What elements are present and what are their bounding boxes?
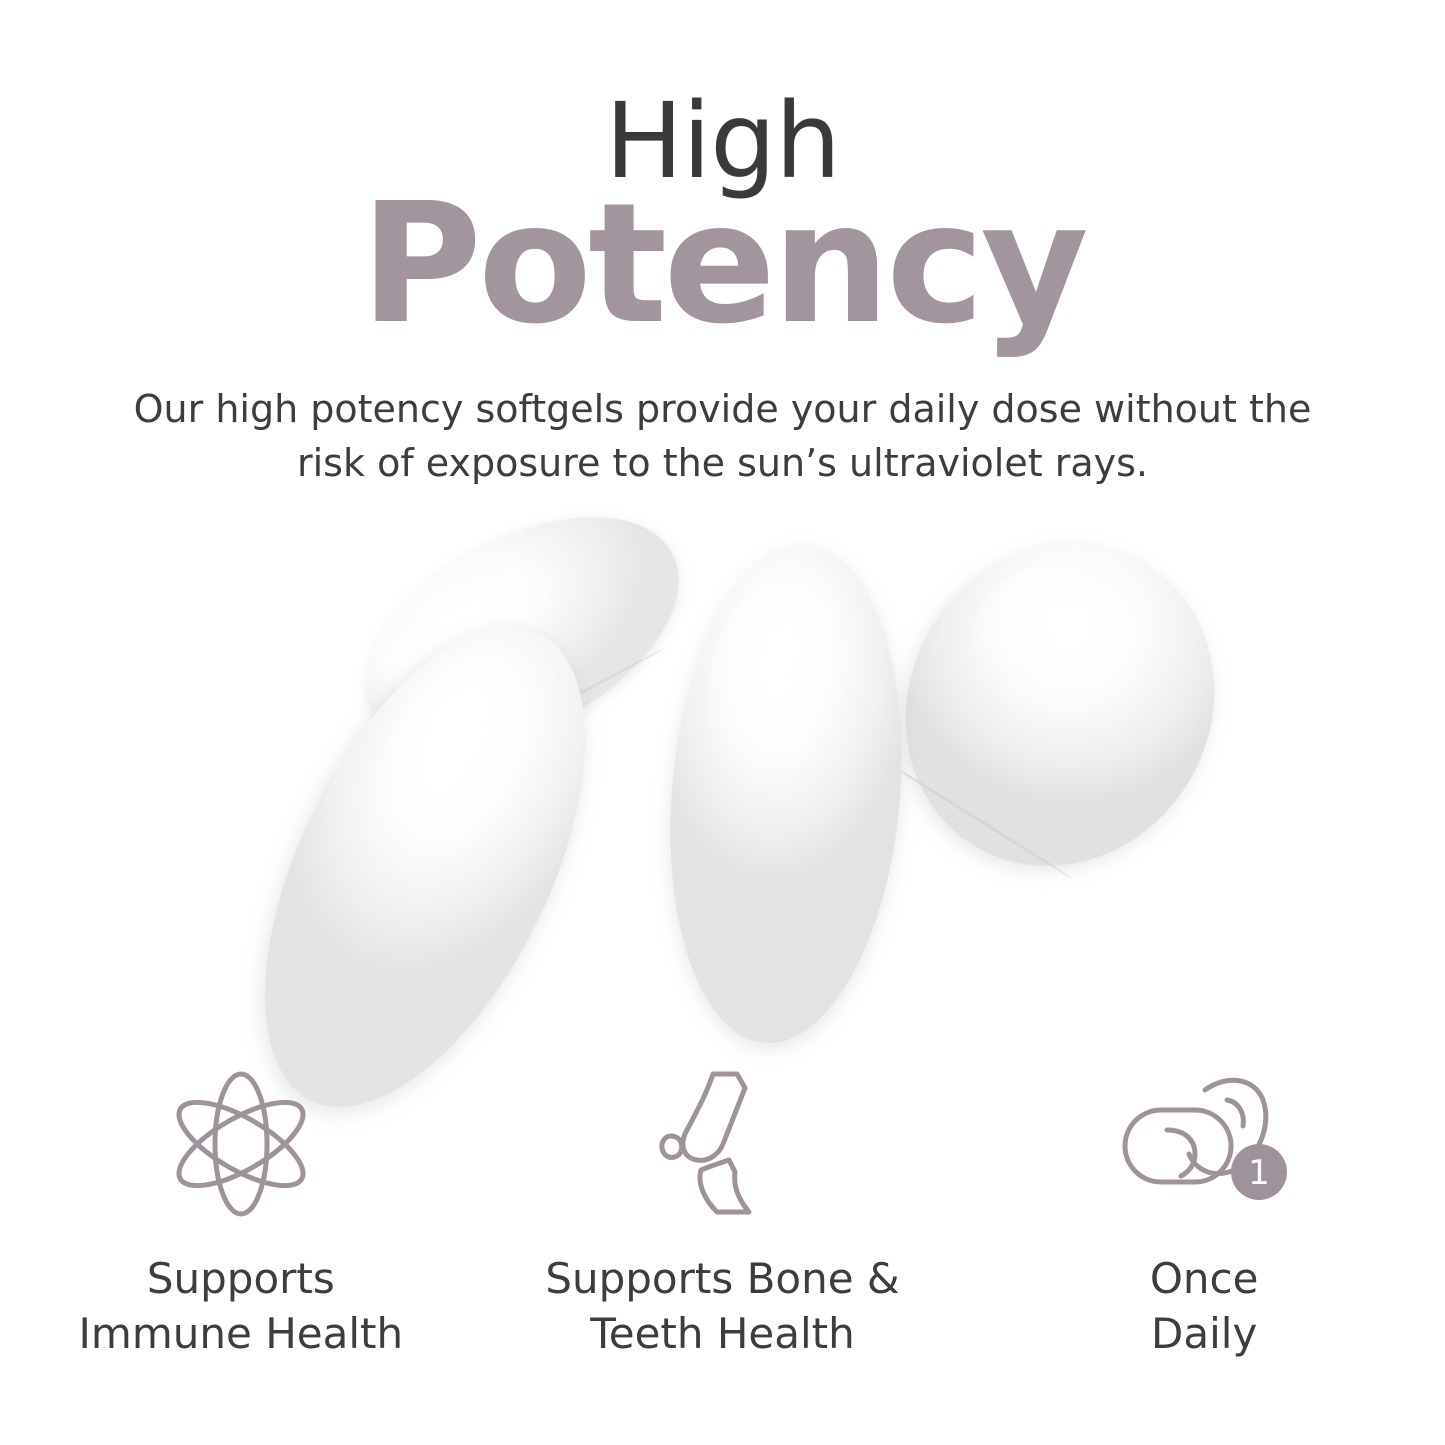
product-image: [0, 512, 1445, 1092]
badge-count: 1: [1248, 1153, 1270, 1193]
benefit-label-immune: Supports Immune Health: [79, 1252, 404, 1361]
softgel-capsule-right: [845, 486, 1274, 925]
headline-block: High Potency: [0, 88, 1445, 351]
benefit-label-bone-teeth: Supports Bone & Teeth Health: [545, 1252, 899, 1361]
two-capsules-icon: 1: [1109, 1068, 1299, 1220]
page-title: Potency: [0, 180, 1445, 351]
capsule-seam: [873, 753, 1073, 880]
atom-icon: [161, 1068, 321, 1220]
benefits-row: Supports Immune Health Supports Bone & T…: [0, 1068, 1445, 1361]
benefit-item-bone-teeth: Supports Bone & Teeth Health: [482, 1068, 964, 1361]
benefit-label-once-daily: Once Daily: [1150, 1252, 1259, 1361]
product-feature-card: High Potency Our high potency softgels p…: [0, 0, 1445, 1445]
benefit-item-immune: Supports Immune Health: [0, 1068, 482, 1361]
softgel-capsule-center: [651, 535, 922, 1053]
benefit-item-once-daily: 1 Once Daily: [963, 1068, 1445, 1361]
subhead-text: Our high potency softgels provide your d…: [108, 383, 1338, 491]
knee-joint-icon: [653, 1068, 793, 1220]
